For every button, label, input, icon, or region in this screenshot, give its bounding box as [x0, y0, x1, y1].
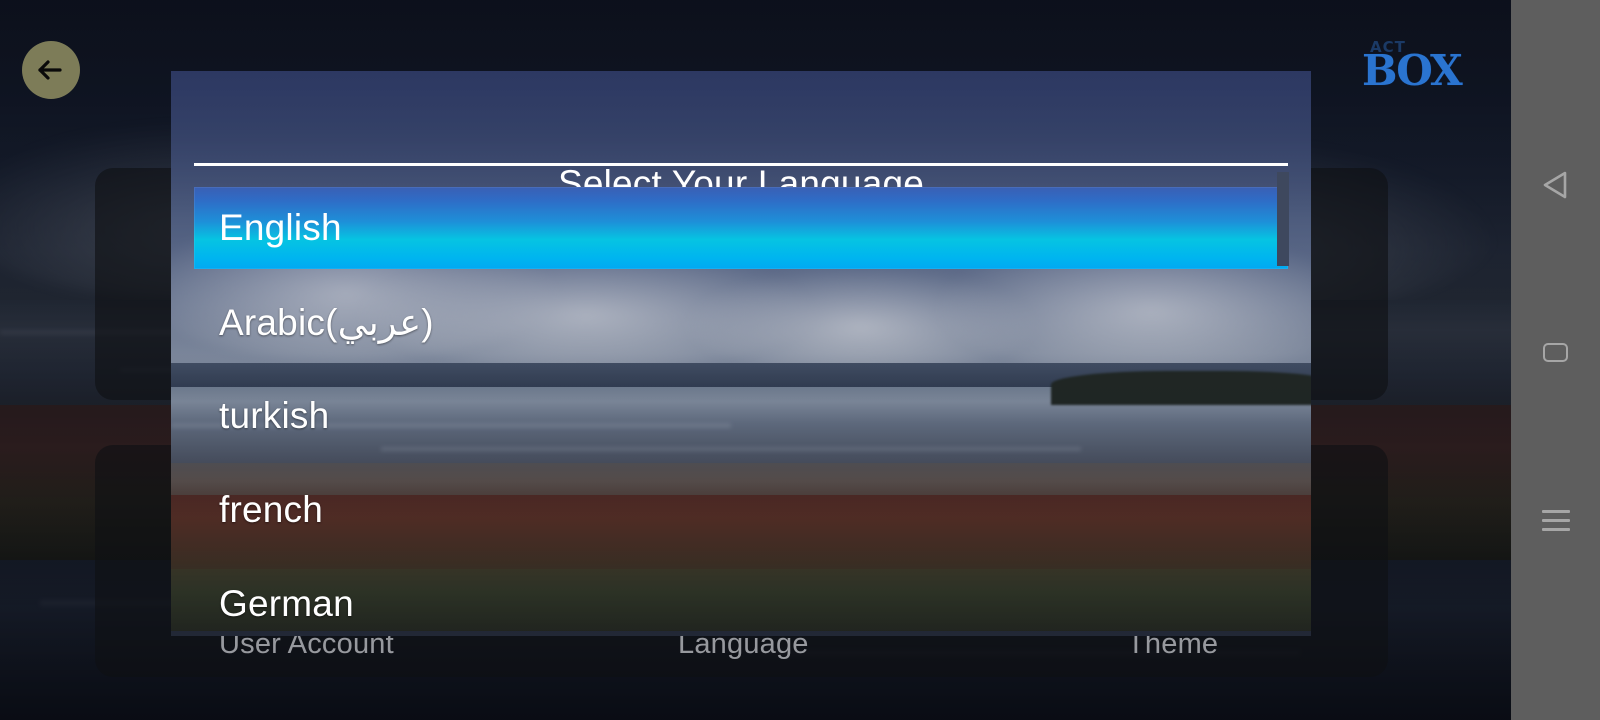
language-option-label: German — [219, 583, 354, 625]
dialog-title-divider — [194, 163, 1288, 166]
language-dialog: Select Your Language English Arabic(عربي… — [171, 71, 1311, 636]
nav-back-button[interactable] — [1511, 140, 1600, 229]
language-option-label: Arabic(عربي) — [219, 301, 434, 344]
back-button[interactable] — [22, 41, 80, 99]
nav-recents-button[interactable] — [1511, 476, 1600, 565]
language-option-arabic[interactable]: Arabic(عربي) — [194, 281, 1288, 363]
android-navigation-bar — [1511, 0, 1600, 720]
language-option-german[interactable]: German — [194, 563, 1288, 636]
screen-root: User Account Language Theme ACT BOX — [0, 0, 1600, 720]
language-option-label: English — [219, 207, 342, 249]
app-logo-box-text: BOX — [1362, 46, 1461, 95]
hamburger-icon — [1542, 510, 1570, 531]
square-icon — [1543, 343, 1568, 362]
language-option-label: turkish — [219, 395, 329, 437]
language-list-scrollbar-thumb[interactable] — [1277, 172, 1289, 266]
language-option-french[interactable]: french — [194, 469, 1288, 551]
triangle-left-icon — [1538, 168, 1574, 202]
language-option-turkish[interactable]: turkish — [194, 375, 1288, 457]
language-list[interactable]: English Arabic(عربي) turkish french Germ… — [194, 172, 1288, 636]
nav-home-button[interactable] — [1511, 308, 1600, 397]
language-option-english[interactable]: English — [194, 187, 1288, 269]
language-option-label: french — [219, 489, 323, 531]
app-logo: ACT BOX — [1362, 38, 1462, 96]
arrow-left-icon — [34, 53, 68, 87]
